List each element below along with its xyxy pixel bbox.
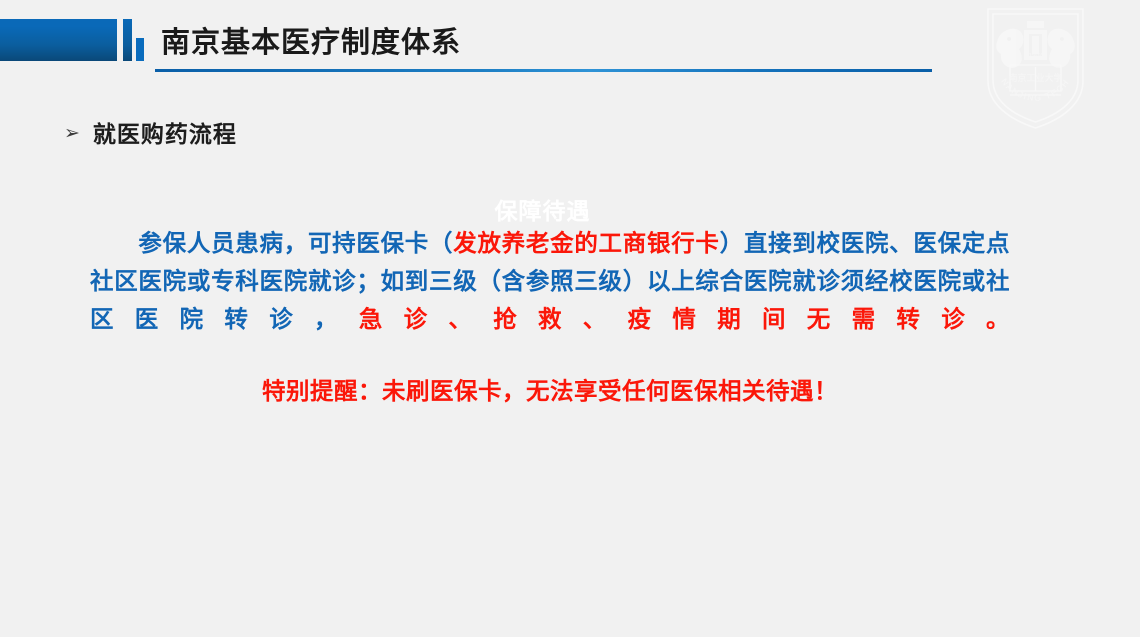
body-paragraph-text: 参保人员患病，可持医保卡（发放养老金的工商银行卡）直接到校医院、医保定点社区医院… xyxy=(90,224,1010,338)
header-accent-bar-small xyxy=(136,38,144,61)
alert-notice: 特别提醒：未刷医保卡，无法享受任何医保相关待遇！ xyxy=(90,372,1010,410)
body-segment-2-highlight: 发放养老金的工商银行卡 xyxy=(453,230,719,256)
body-paragraph: 参保人员患病，可持医保卡（发放养老金的工商银行卡）直接到校医院、医保定点社区医院… xyxy=(90,224,1010,338)
header-divider xyxy=(155,69,932,72)
body-segment-4-highlight: 急诊、抢救、疫情期间无需转诊。 xyxy=(359,306,1010,332)
header-accent-bar-medium xyxy=(123,19,132,61)
svg-text:NANJING TECH UNIVERSITY: NANJING TECH UNIVERSITY xyxy=(983,3,1073,103)
body-segment-1: 参保人员患病，可持医保卡（ xyxy=(90,230,453,256)
page-title: 南京基本医疗制度体系 xyxy=(161,23,461,63)
ghost-heading: 保障待遇 xyxy=(0,196,1085,226)
slide-canvas: 南京基本医疗制度体系 1902 xyxy=(0,0,1140,637)
section-bullet: ➢ 就医购药流程 xyxy=(64,118,237,150)
svg-text:南京工业大学: 南京工业大学 xyxy=(1008,72,1062,83)
svg-text:1902: 1902 xyxy=(1029,53,1043,59)
arrow-bullet-icon: ➢ xyxy=(64,124,80,143)
header-accent-bar-large xyxy=(0,19,117,61)
university-crest-watermark: 1902 南京工业大学 NANJING TECH UNIVERSITY xyxy=(983,3,1088,131)
section-bullet-label: 就医购药流程 xyxy=(93,118,237,150)
